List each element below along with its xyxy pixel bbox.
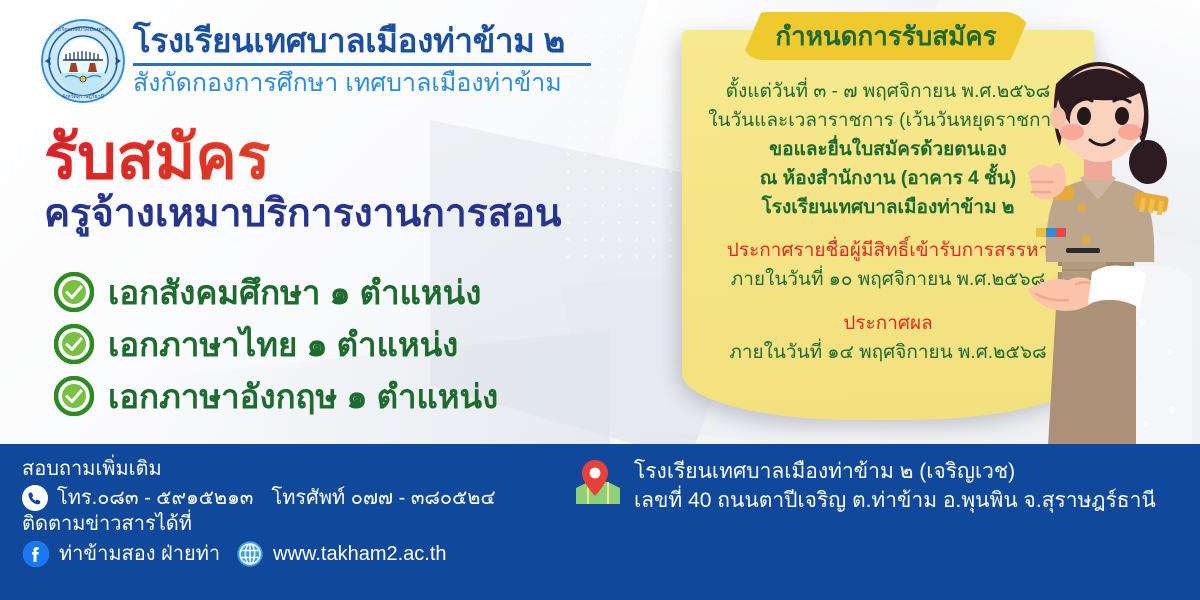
school-name: โรงเรียนเทศบาลเมืองท่าข้าม ๒	[133, 22, 591, 60]
address-lines: โรงเรียนเทศบาลเมืองท่าข้าม ๒ (เจริญเวช) …	[634, 458, 1156, 516]
list-item: เอกภาษาอังกฤษ ๑ ตำแหน่ง	[54, 370, 498, 422]
headline-block: รับสมัคร ครูจ้างเหมาบริการงานการสอน	[44, 126, 562, 236]
positions-list: เอกสังคมศึกษา ๑ ตำแหน่ง เอกภาษาไทย ๑ ตำแ…	[54, 266, 498, 422]
svg-text:โรงเรียนเทศบาลเมืองท่าข้าม: โรงเรียนเทศบาลเมืองท่าข้าม	[52, 26, 114, 33]
header-divider	[133, 63, 591, 66]
list-item: เอกภาษาไทย ๑ ตำแหน่ง	[54, 318, 498, 370]
school-seal-icon: โรงเรียนเทศบาลเมืองท่าข้าม จังหวัดสุราษฎ…	[41, 19, 125, 103]
globe-icon[interactable]	[236, 540, 264, 568]
position-label: เอกภาษาไทย ๑ ตำแหน่ง	[108, 328, 458, 361]
headline-subtitle: ครูจ้างเหมาบริการงานการสอน	[44, 193, 562, 236]
contact-heading: สอบถามเพิ่มเติม	[22, 456, 496, 483]
website-url[interactable]: www.takham2.ac.th	[273, 541, 446, 567]
position-label: เอกภาษาอังกฤษ ๑ ตำแหน่ง	[108, 380, 498, 413]
svg-text:จังหวัดสุราษฎร์ธานี: จังหวัดสุราษฎร์ธานี	[62, 93, 104, 100]
phone-row: โทร.๐๘๓ - ๕๙๑๕๒๑๓ โทรศัพท์ ๐๗๗ - ๓๘๐๕๒๔	[22, 485, 496, 511]
check-circle-icon	[54, 324, 94, 364]
map-pin-icon	[570, 458, 620, 510]
check-circle-icon	[54, 376, 94, 416]
list-item: เอกสังคมศึกษา ๑ ตำแหน่ง	[54, 266, 498, 318]
teacher-illustration	[1022, 22, 1200, 446]
telephone-number[interactable]: โทรศัพท์ ๐๗๗ - ๓๘๐๕๒๔	[271, 485, 495, 511]
headline-main: รับสมัคร	[44, 126, 562, 189]
follow-heading: ติดตามข่าวสารได้ที่	[22, 511, 496, 538]
school-header: โรงเรียนเทศบาลเมืองท่าข้าม ๒ สังกัดกองกา…	[133, 22, 591, 98]
footer: สอบถามเพิ่มเติม โทร.๐๘๓ - ๕๙๑๕๒๑๓ โทรศัพ…	[0, 444, 1200, 600]
schedule-ribbon: กำหนดการรับสมัคร	[741, 12, 1031, 60]
school-department: สังกัดกองการศึกษา เทศบาลเมืองท่าข้าม	[133, 68, 591, 98]
schedule-ribbon-title: กำหนดการรับสมัคร	[775, 23, 996, 49]
address-line-1: โรงเรียนเทศบาลเมืองท่าข้าม ๒ (เจริญเวช)	[634, 458, 1156, 487]
check-circle-icon	[54, 272, 94, 312]
phone-icon	[22, 485, 48, 511]
position-label: เอกสังคมศึกษา ๑ ตำแหน่ง	[108, 276, 481, 309]
facebook-icon[interactable]	[22, 540, 50, 568]
social-row: ท่าข้ามสอง ฝ่ายท่า www.takham2.ac.th	[22, 540, 496, 568]
facebook-name[interactable]: ท่าข้ามสอง ฝ่ายท่า	[59, 541, 220, 567]
footer-address-block: โรงเรียนเทศบาลเมืองท่าข้าม ๒ (เจริญเวช) …	[570, 458, 1156, 516]
address-line-2: เลขที่ 40 ถนนตาปีเจริญ ต.ท่าข้าม อ.พุนพิ…	[634, 487, 1156, 516]
footer-contact-block: สอบถามเพิ่มเติม โทร.๐๘๓ - ๕๙๑๕๒๑๓ โทรศัพ…	[22, 456, 496, 568]
recruitment-poster: โรงเรียนเทศบาลเมืองท่าข้าม จังหวัดสุราษฎ…	[0, 0, 1200, 600]
mobile-number[interactable]: โทร.๐๘๓ - ๕๙๑๕๒๑๓	[57, 485, 253, 511]
